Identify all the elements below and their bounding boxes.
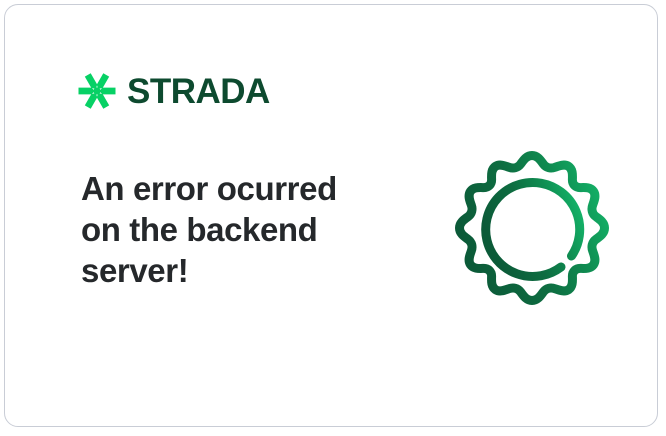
brand-wordmark: STRADA (127, 74, 270, 109)
gear-cog-icon (449, 145, 615, 311)
error-card: STRADA An error ocurred on the backend s… (4, 4, 658, 427)
strada-asterisk-icon (77, 71, 117, 111)
brand-lockup: STRADA (77, 71, 270, 111)
error-message: An error ocurred on the backend server! (81, 168, 381, 291)
